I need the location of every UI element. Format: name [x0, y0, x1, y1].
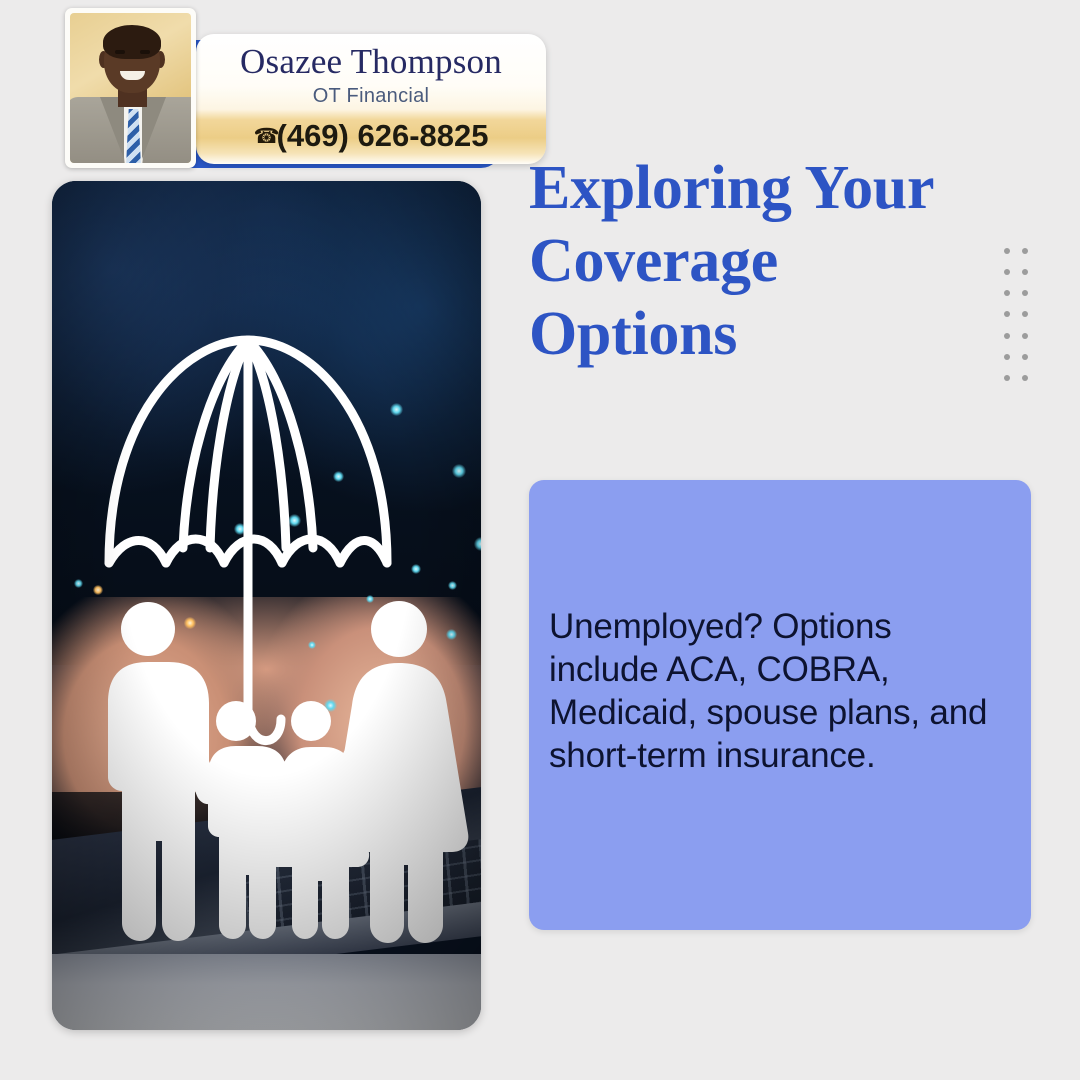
contact-phone-number[interactable]: (469) 626-8825: [277, 118, 489, 154]
contact-card: Osazee Thompson OT Financial ☎ (469) 626…: [52, 8, 501, 170]
grid-dot: [1004, 333, 1010, 339]
avatar-eye-left: [115, 50, 125, 54]
contact-card-body: Osazee Thompson OT Financial ☎ (469) 626…: [196, 34, 546, 164]
contact-subtitle: OT Financial: [196, 85, 546, 108]
grid-dot: [1022, 375, 1028, 381]
grid-dot: [1022, 290, 1028, 296]
grid-dot: [1004, 375, 1010, 381]
avatar-eye-right: [140, 50, 150, 54]
poster-canvas: Osazee Thompson OT Financial ☎ (469) 626…: [0, 0, 1080, 1080]
grid-dot: [1022, 354, 1028, 360]
grid-dot: [1022, 333, 1028, 339]
phone-handset-icon: ☎: [254, 125, 274, 149]
grid-dot: [1022, 269, 1028, 275]
grid-dot: [1022, 311, 1028, 317]
contact-name: Osazee Thompson: [196, 42, 546, 82]
avatar: [70, 13, 191, 163]
decorative-dot-grid: [1004, 248, 1040, 396]
grid-dot: [1004, 311, 1010, 317]
avatar-hair: [103, 25, 161, 59]
hero-photo-panel: [52, 181, 481, 1030]
contact-phone-row[interactable]: ☎ (469) 626-8825: [196, 118, 546, 154]
info-card: Unemployed? Options include ACA, COBRA, …: [529, 480, 1031, 930]
info-card-text: Unemployed? Options include ACA, COBRA, …: [549, 605, 1009, 777]
photo-vignette: [52, 181, 481, 1030]
grid-dot: [1022, 248, 1028, 254]
grid-dot: [1004, 248, 1010, 254]
grid-dot: [1004, 269, 1010, 275]
grid-dot: [1004, 354, 1010, 360]
grid-dot: [1004, 290, 1010, 296]
page-title: Exploring Your Coverage Options: [529, 152, 999, 371]
headshot-frame: [65, 8, 196, 168]
